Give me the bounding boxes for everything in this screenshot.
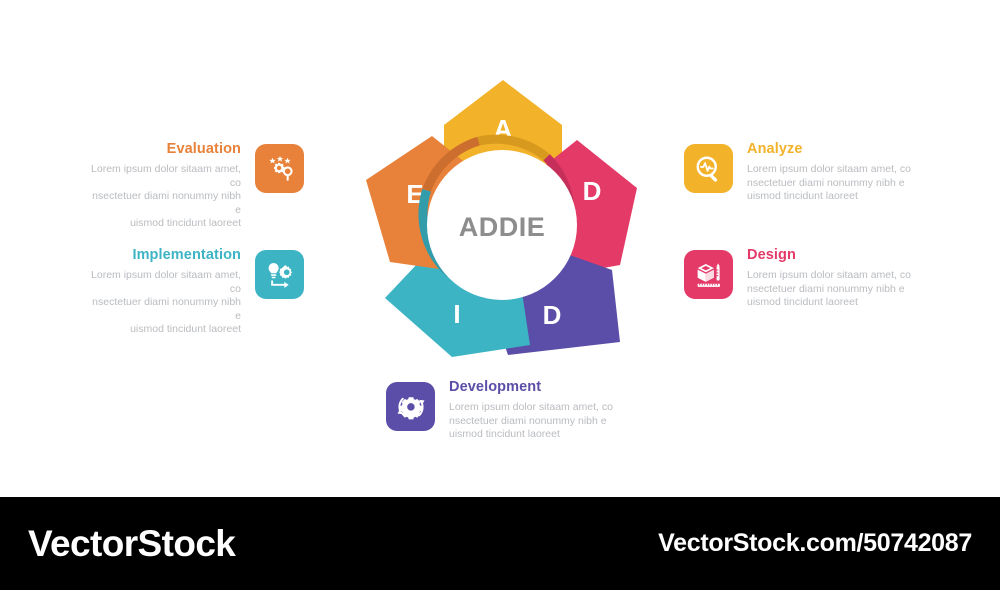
block-implementation[interactable]: Implementation Lorem ipsum dolor sitaam … [88, 248, 304, 337]
gears-stars-magnifier-icon[interactable] [255, 144, 304, 193]
block-development-title: Development [449, 380, 541, 396]
block-evaluation-texts: Evaluation Lorem ipsum dolor sitaam amet… [88, 142, 241, 231]
center-label: ADDIE [459, 212, 546, 242]
block-analyze-title: Analyze [747, 142, 803, 158]
lightbulb-gear-icon[interactable] [255, 250, 304, 299]
block-design-description: Lorem ipsum dolor sitaam amet, co nsecte… [747, 269, 911, 310]
block-design[interactable]: Design Lorem ipsum dolor sitaam amet, co… [684, 248, 912, 310]
block-evaluation-title: Evaluation [167, 142, 241, 158]
block-analyze-texts: Analyze Lorem ipsum dolor sitaam amet, c… [747, 142, 911, 204]
block-development[interactable]: Development Lorem ipsum dolor sitaam ame… [386, 380, 626, 442]
infographic-canvas: A D D I E [0, 0, 1000, 497]
cube-ruler-icon[interactable] [684, 250, 733, 299]
block-development-texts: Development Lorem ipsum dolor sitaam ame… [449, 380, 613, 442]
block-implementation-description: Lorem ipsum dolor sitaam amet, co nsecte… [88, 269, 241, 337]
block-evaluation[interactable]: Evaluation Lorem ipsum dolor sitaam amet… [88, 142, 304, 231]
block-design-texts: Design Lorem ipsum dolor sitaam amet, co… [747, 248, 911, 310]
segment-letter-d-development: D [543, 300, 562, 330]
block-development-description: Lorem ipsum dolor sitaam amet, co nsecte… [449, 401, 613, 442]
vectorstock-url: VectorStock.com/50742087 [658, 529, 972, 558]
block-analyze[interactable]: Analyze Lorem ipsum dolor sitaam amet, c… [684, 142, 912, 204]
block-analyze-description: Lorem ipsum dolor sitaam amet, co nsecte… [747, 163, 911, 204]
magnifier-pulse-icon[interactable] [684, 144, 733, 193]
gear-refresh-icon[interactable] [386, 382, 435, 431]
block-evaluation-description: Lorem ipsum dolor sitaam amet, co nsecte… [88, 163, 241, 231]
block-implementation-title: Implementation [132, 248, 241, 264]
addie-diagram: A D D I E [340, 70, 670, 370]
segment-letter-i: I [453, 299, 460, 329]
vectorstock-logo: VectorStock [28, 523, 235, 565]
block-design-title: Design [747, 248, 796, 264]
segment-letter-d-design: D [583, 176, 602, 206]
block-implementation-texts: Implementation Lorem ipsum dolor sitaam … [88, 248, 241, 337]
watermark-footer: VectorStock VectorStock.com/50742087 [0, 497, 1000, 590]
